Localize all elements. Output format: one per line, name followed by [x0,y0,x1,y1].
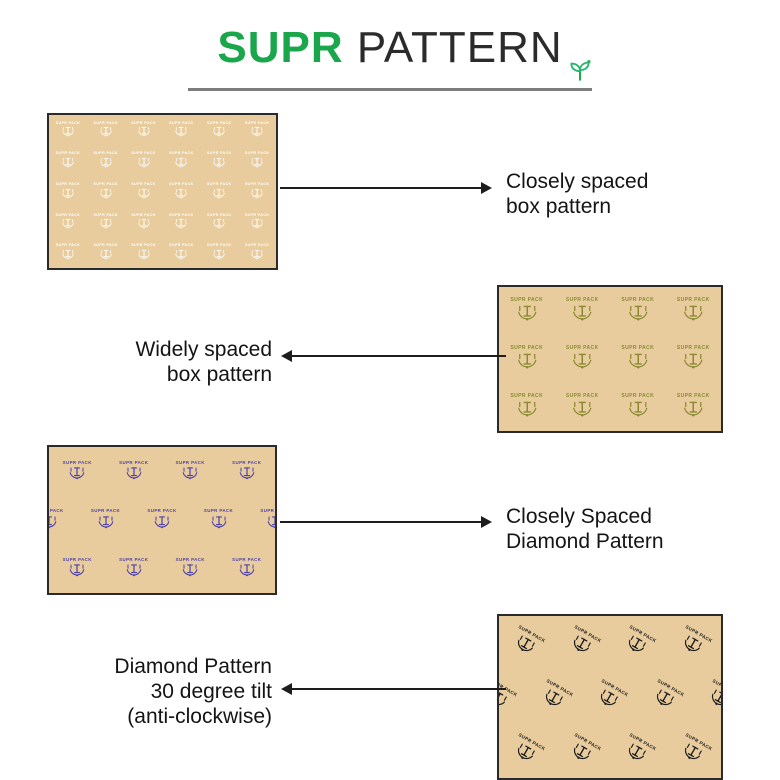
pattern-logo-tile: SUPR PACK [77,496,134,545]
pattern-logo-mark [174,249,188,261]
pattern-logo-mark [627,304,650,324]
pattern-logo-tile: SUPR PACK [125,268,163,270]
page-header: SUPR PATTERN [0,26,780,70]
pattern-logo-tile: SUPR PACK [125,176,163,207]
pattern-logo-tile: SUPR PACK [163,237,201,268]
pattern-logo-text: SUPR PACK [63,558,92,562]
pattern-logo-mark [61,218,75,230]
pattern-logo-mark [516,352,539,372]
sprout-icon [567,46,593,72]
pattern-logo-tile: SUPR PACK [219,447,276,496]
pattern-logo-text: SUPR PACK [245,122,270,126]
pattern-logo-tile: SUPR PACK [200,237,238,268]
pattern-logo-tile: SUPR PACK [200,176,238,207]
pattern-logo-text: SUPR PACK [56,244,81,248]
pattern-logo-mark [516,304,539,324]
pattern-box-closely-spaced-box: SUPR PACKSUPR PACKSUPR PACKSUPR PACKSUPR… [47,113,278,270]
pattern-logo-mark [627,400,650,420]
pattern-logo-mark [153,515,171,531]
pattern-logo-tile: SUPR PACK [47,268,49,270]
pattern-logo-mark [212,157,226,169]
callout-diamond-30-degree-tilt: Diamond Pattern 30 degree tilt (anti-clo… [114,655,272,729]
callout-line-3: (anti-clockwise) [114,705,272,730]
pattern-logo-mark [137,249,151,261]
pattern-logo-tile: SUPR PACK [162,544,219,593]
pattern-logo-text: SUPR PACK [245,244,270,248]
pattern-logo-text: SUPR PACK [63,461,92,465]
pattern-logo-tile: SUPR PACK [134,593,191,595]
pattern-logo-text: SUPR PACK [169,244,194,248]
pattern-logo-tile: SUPR PACK [247,496,277,545]
pattern-logo-tile: SUPR PACK [49,544,106,593]
pattern-logo-tile: SUPR PACK [238,146,276,177]
pattern-logo-tile: SUPR PACK [721,431,723,433]
pattern-logo-mark [682,352,705,372]
pattern-logo-text: SUPR PACK [677,346,710,351]
pattern-logo-tile: SUPR PACK [49,115,87,146]
pattern-logo-text: SUPR PACK [245,214,270,218]
callout-closely-spaced-diamond: Closely Spaced Diamond Pattern [506,505,664,555]
pattern-logo-tile: SUPR PACK [666,431,722,433]
pattern-logo-mark [125,563,143,579]
pattern-logo-mark [99,249,113,261]
pattern-logo-tile: SUPR PACK [276,115,278,146]
pattern-logo-mark [137,126,151,138]
pattern-logo-text: SUPR PACK [677,394,710,399]
pattern-logo-tile: SUPR PACK [721,335,723,383]
pattern-logo-mark [61,126,75,138]
pattern-logo-text: SUPR PACK [131,183,156,187]
pattern-logo-mark [174,157,188,169]
pattern-logo-mark [212,249,226,261]
pattern-logo-tile: SUPR PACK [200,268,238,270]
pattern-logo-mark [99,188,113,200]
pattern-logo-text: SUPR PACK [207,244,232,248]
pattern-logo-text: SUPR PACK [93,244,118,248]
pattern-logo-mark [212,126,226,138]
title-underline [188,88,592,91]
pattern-logo-tile: SUPR PACK [555,383,611,431]
pattern-logo-mark [68,563,86,579]
pattern-logo-tile: SUPR PACK [721,383,723,431]
pattern-logo-mark [68,466,86,482]
pattern-logo-mark [571,400,594,420]
pattern-logo-text: SUPR PACK [131,152,156,156]
pattern-logo-mark [61,188,75,200]
pattern-logo-tile: SUPR PACK [87,237,125,268]
callout-widely-spaced-box: Widely spaced box pattern [135,338,272,388]
pattern-logo-tile: SUPR PACK [555,335,611,383]
pattern-logo-tile: SUPR PACK [200,207,238,238]
pattern-logo-tile: SUPR PACK [497,431,499,433]
pattern-logo-text: SUPR PACK [510,298,543,303]
pattern-logo-tile: SUPR PACK [77,593,134,595]
pattern-logo-text: SUPR PACK [56,122,81,126]
pattern-logo-tile: SUPR PACK [499,431,555,433]
callout-line-2: box pattern [506,195,648,220]
pattern-logo-text: SUPR PACK [510,394,543,399]
pattern-logo-text: SUPR PACK [245,152,270,156]
pattern-logo-text: SUPR PACK [131,122,156,126]
callout-line-2: box pattern [135,363,272,388]
pattern-logo-tile: SUPR PACK [666,335,722,383]
pattern-logo-text: SUPR PACK [176,558,205,562]
callout-line-1: Diamond Pattern [114,655,272,680]
pattern-logo-tile: SUPR PACK [162,447,219,496]
pattern-logo-mark [99,157,113,169]
pattern-logo-mark [174,218,188,230]
pattern-logo-tile: SUPR PACK [49,237,87,268]
pattern-logo-tile: SUPR PACK [610,431,666,433]
pattern-logo-tile: SUPR PACK [163,176,201,207]
callout-line-2: 30 degree tilt [114,680,272,705]
pattern-logo-text: SUPR PACK [119,461,148,465]
title-brand: SUPR [217,23,343,72]
pattern-logo-text: SUPR PACK [93,152,118,156]
pattern-logo-text: SUPR PACK [207,122,232,126]
pattern-logo-text: SUPR PACK [566,394,599,399]
pattern-logo-tile: SUPR PACK [190,496,247,545]
pattern-logo-text: SUPR PACK [169,214,194,218]
pattern-logo-mark [174,126,188,138]
pattern-logo-tile: SUPR PACK [87,207,125,238]
pattern-logo-tile: SUPR PACK [238,176,276,207]
pattern-infographic: SUPR PATTERN SUPR PACKSUPR PACKSUPR PACK… [0,0,780,780]
pattern-logo-mark [97,515,115,531]
pattern-logo-tile: SUPR PACK [555,431,611,433]
pattern-logo-mark [571,304,594,324]
pattern-logo-mark [250,188,264,200]
pattern-logo-mark [137,157,151,169]
pattern-logo-tile: SUPR PACK [49,447,106,496]
pattern-logo-mark [99,126,113,138]
pattern-logo-tile: SUPR PACK [610,383,666,431]
callout-line-1: Widely spaced [135,338,272,363]
pattern-logo-mark [99,218,113,230]
pattern-logo-tile: SUPR PACK [49,207,87,238]
pattern-logo-text: SUPR PACK [207,214,232,218]
pattern-logo-tile: SUPR PACK [721,287,723,335]
pattern-logo-text: SUPR PACK [169,152,194,156]
pattern-logo-tile: SUPR PACK [163,207,201,238]
pattern-logo-mark [571,352,594,372]
pattern-logo-tile: SUPR PACK [49,146,87,177]
pattern-logo-text: SUPR PACK [232,558,261,562]
pattern-logo-tile: SUPR PACK [87,176,125,207]
pattern-logo-tile: SUPR PACK [276,237,278,268]
pattern-logo-tile: SUPR PACK [238,115,276,146]
pattern-logo-mark [250,249,264,261]
pattern-logo-mark [61,249,75,261]
pattern-box-widely-spaced-box: SUPR PACKSUPR PACKSUPR PACKSUPR PACKSUPR… [497,285,723,433]
pattern-logo-tile: SUPR PACK [238,207,276,238]
pattern-logo-tile: SUPR PACK [666,383,722,431]
pattern-logo-tile: SUPR PACK [200,115,238,146]
pattern-logo-tile: SUPR PACK [163,115,201,146]
pattern-logo-tile: SUPR PACK [276,268,278,270]
pattern-logo-tile: SUPR PACK [610,287,666,335]
pattern-logo-tile: SUPR PACK [190,593,247,595]
pattern-logo-tile: SUPR PACK [276,207,278,238]
pattern-logo-mark [212,188,226,200]
pattern-box-closely-spaced-diamond: SUPR PACKSUPR PACKSUPR PACKSUPR PACKSUPR… [47,445,277,595]
pattern-logo-mark [250,218,264,230]
pattern-logo-tile: SUPR PACK [87,146,125,177]
pattern-logo-mark [682,304,705,324]
pattern-logo-text: SUPR PACK [207,152,232,156]
pattern-logo-text: SUPR PACK [232,461,261,465]
pattern-logo-text: SUPR PACK [56,152,81,156]
pattern-logo-tile: SUPR PACK [276,146,278,177]
pattern-logo-text: SUPR PACK [207,183,232,187]
pattern-logo-tile: SUPR PACK [87,268,125,270]
pattern-logo-mark [47,515,58,531]
pattern-logo-mark [61,157,75,169]
pattern-logo-text: SUPR PACK [245,183,270,187]
pattern-logo-tile: SUPR PACK [106,447,163,496]
pattern-logo-tile: SUPR PACK [499,335,555,383]
pattern-logo-mark [212,218,226,230]
callout-line-1: Closely Spaced [506,505,664,530]
pattern-logo-text: SUPR PACK [621,346,654,351]
pattern-logo-text: SUPR PACK [131,244,156,248]
pattern-logo-text: SUPR PACK [566,346,599,351]
pattern-logo-tile: SUPR PACK [106,544,163,593]
callout-line-1: Closely spaced [506,170,648,195]
pattern-logo-tile: SUPR PACK [49,176,87,207]
pattern-logo-mark [516,400,539,420]
pattern-logo-mark [627,352,650,372]
pattern-logo-tile: SUPR PACK [666,287,722,335]
pattern-logo-tile: SUPR PACK [275,544,277,593]
pattern-logo-mark [210,515,228,531]
pattern-logo-tile: SUPR PACK [47,593,77,595]
pattern-logo-text: SUPR PACK [621,298,654,303]
pattern-logo-tile: SUPR PACK [125,237,163,268]
pattern-logo-text: SUPR PACK [169,183,194,187]
pattern-logo-text: SUPR PACK [260,509,277,513]
pattern-logo-tile: SUPR PACK [610,335,666,383]
pattern-logo-tile: SUPR PACK [238,268,276,270]
pattern-logo-tile: SUPR PACK [219,544,276,593]
pattern-logo-mark [238,466,256,482]
pattern-logo-tile: SUPR PACK [721,285,723,287]
page-title: SUPR PATTERN [217,26,562,70]
pattern-logo-tile: SUPR PACK [125,115,163,146]
pattern-logo-tile: SUPR PACK [163,268,201,270]
pattern-logo-text: SUPR PACK [510,346,543,351]
pattern-logo-tile: SUPR PACK [87,115,125,146]
pattern-logo-mark [682,400,705,420]
pattern-logo-text: SUPR PACK [169,122,194,126]
pattern-logo-tile: SUPR PACK [47,496,77,545]
callout-closely-spaced-box: Closely spaced box pattern [506,170,648,220]
pattern-logo-text: SUPR PACK [56,214,81,218]
pattern-logo-text: SUPR PACK [119,558,148,562]
pattern-logo-text: SUPR PACK [93,122,118,126]
pattern-logo-tile: SUPR PACK [247,593,277,595]
pattern-logo-tile: SUPR PACK [125,207,163,238]
pattern-logo-tile: SUPR PACK [238,237,276,268]
pattern-logo-text: SUPR PACK [91,509,120,513]
pattern-logo-text: SUPR PACK [93,214,118,218]
pattern-logo-mark [250,157,264,169]
pattern-logo-text: SUPR PACK [566,298,599,303]
pattern-logo-mark [181,466,199,482]
pattern-logo-mark [266,515,277,531]
pattern-logo-mark [174,188,188,200]
pattern-logo-tile: SUPR PACK [200,146,238,177]
pattern-logo-text: SUPR PACK [677,298,710,303]
pattern-logo-text: SUPR PACK [131,214,156,218]
pattern-logo-mark [125,466,143,482]
pattern-logo-tile: SUPR PACK [163,146,201,177]
callout-line-2: Diamond Pattern [506,530,664,555]
pattern-logo-mark [137,218,151,230]
pattern-logo-mark [137,188,151,200]
pattern-logo-mark [238,563,256,579]
pattern-logo-tile: SUPR PACK [276,176,278,207]
pattern-logo-tile: SUPR PACK [275,447,277,496]
pattern-logo-tile: SUPR PACK [134,496,191,545]
pattern-logo-text: SUPR PACK [47,509,64,513]
pattern-logo-mark [706,686,723,712]
pattern-box-diamond-30-degree-tilt: SUPR PACKSUPR PACKSUPR PACKSUPR PACKSUPR… [497,614,723,780]
pattern-logo-tile: SUPR PACK [49,268,87,270]
pattern-logo-text: SUPR PACK [621,394,654,399]
pattern-logo-text: SUPR PACK [204,509,233,513]
pattern-logo-mark [181,563,199,579]
pattern-logo-mark [250,126,264,138]
pattern-logo-text: SUPR PACK [176,461,205,465]
pattern-logo-tile: SUPR PACK [276,113,278,115]
pattern-logo-text: SUPR PACK [93,183,118,187]
title-word: PATTERN [344,23,563,72]
pattern-logo-text: SUPR PACK [147,509,176,513]
pattern-logo-tile: SUPR PACK [555,287,611,335]
pattern-logo-tile: SUPR PACK [499,287,555,335]
pattern-logo-tile: SUPR PACK [125,146,163,177]
pattern-logo-tile: SUPR PACK [499,383,555,431]
pattern-logo-text: SUPR PACK [56,183,81,187]
